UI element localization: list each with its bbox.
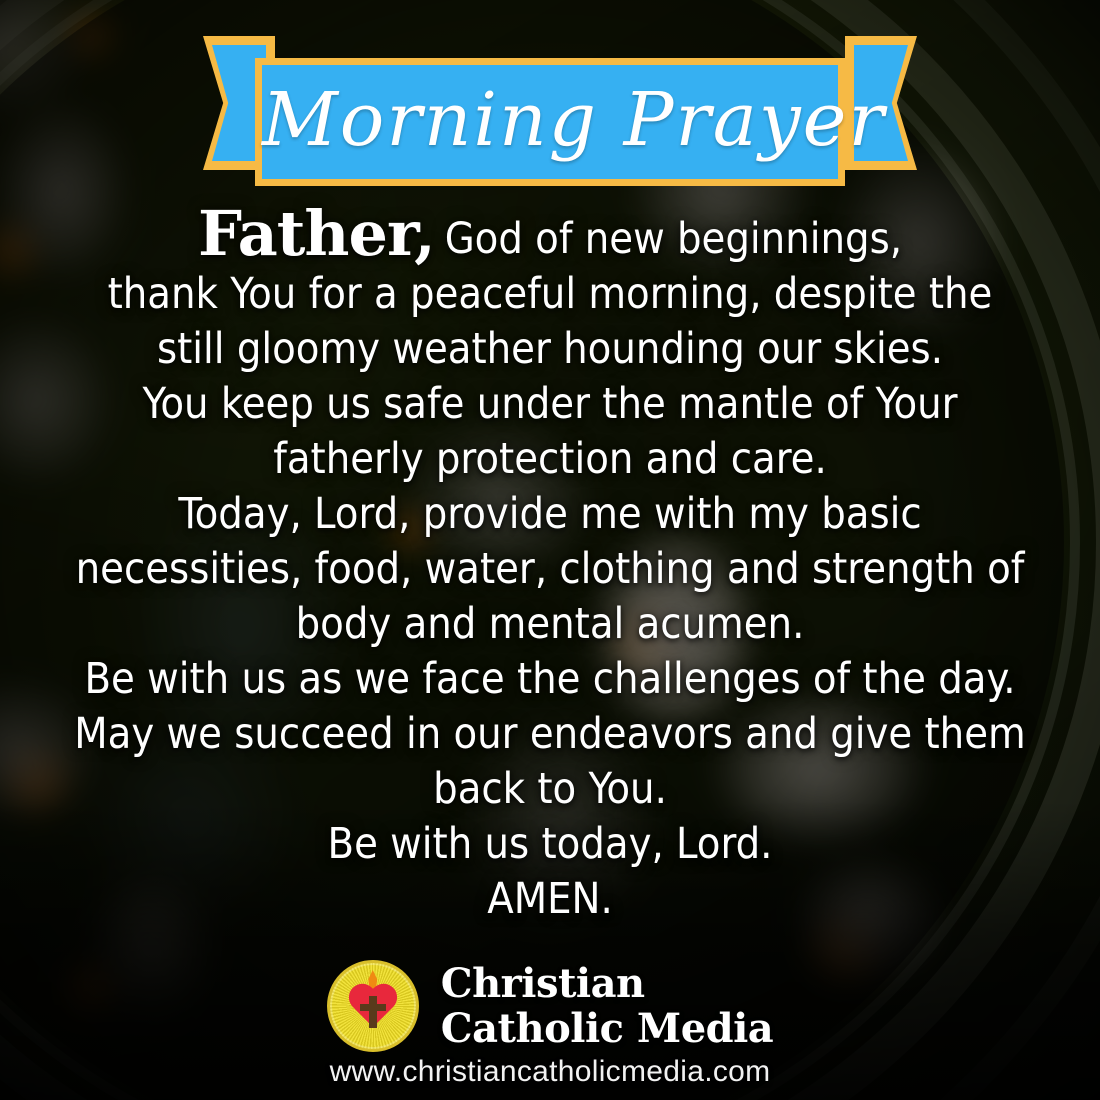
brand-name: Christian Catholic Media xyxy=(441,961,773,1051)
brand-logo: Christian Catholic Media xyxy=(0,952,1100,1060)
banner-plate: Morning Prayer xyxy=(255,58,845,186)
banner-title: Morning Prayer xyxy=(262,59,838,181)
prayer-line: Be with us as we face the challenges of … xyxy=(60,652,1040,707)
prayer-line: body and mental acumen. xyxy=(60,597,1040,652)
prayer-line: May we succeed in our endeavors and give… xyxy=(60,707,1040,762)
title-banner: Morning Prayer xyxy=(0,36,1100,170)
prayer-card: Morning Prayer Father,God of new beginni… xyxy=(0,0,1100,1100)
prayer-line: AMEN. xyxy=(60,872,1040,927)
prayer-line: Today, Lord, provide me with my basic xyxy=(60,487,1040,542)
brand-name-line2: Catholic Media xyxy=(441,1006,773,1051)
prayer-line: necessities, food, water, clothing and s… xyxy=(60,542,1040,597)
prayer-opening-word: Father, xyxy=(198,197,445,270)
prayer-line: You keep us safe under the mantle of You… xyxy=(60,377,1040,432)
prayer-text-block: Father,God of new beginnings, thank You … xyxy=(60,206,1040,927)
prayer-line: fatherly protection and care. xyxy=(60,432,1040,487)
website-url[interactable]: www.christiancatholicmedia.com xyxy=(0,1055,1100,1089)
prayer-line-text: God of new beginnings, xyxy=(445,214,902,264)
prayer-line: back to You. xyxy=(60,762,1040,817)
prayer-line: Father,God of new beginnings, xyxy=(60,206,1040,267)
prayer-line: Be with us today, Lord. xyxy=(60,817,1040,872)
brand-name-line1: Christian xyxy=(441,961,773,1006)
prayer-line: still gloomy weather hounding our skies. xyxy=(60,322,1040,377)
cross-icon xyxy=(369,996,377,1028)
sacred-heart-icon xyxy=(327,960,419,1052)
prayer-line: thank You for a peaceful morning, despit… xyxy=(60,267,1040,322)
